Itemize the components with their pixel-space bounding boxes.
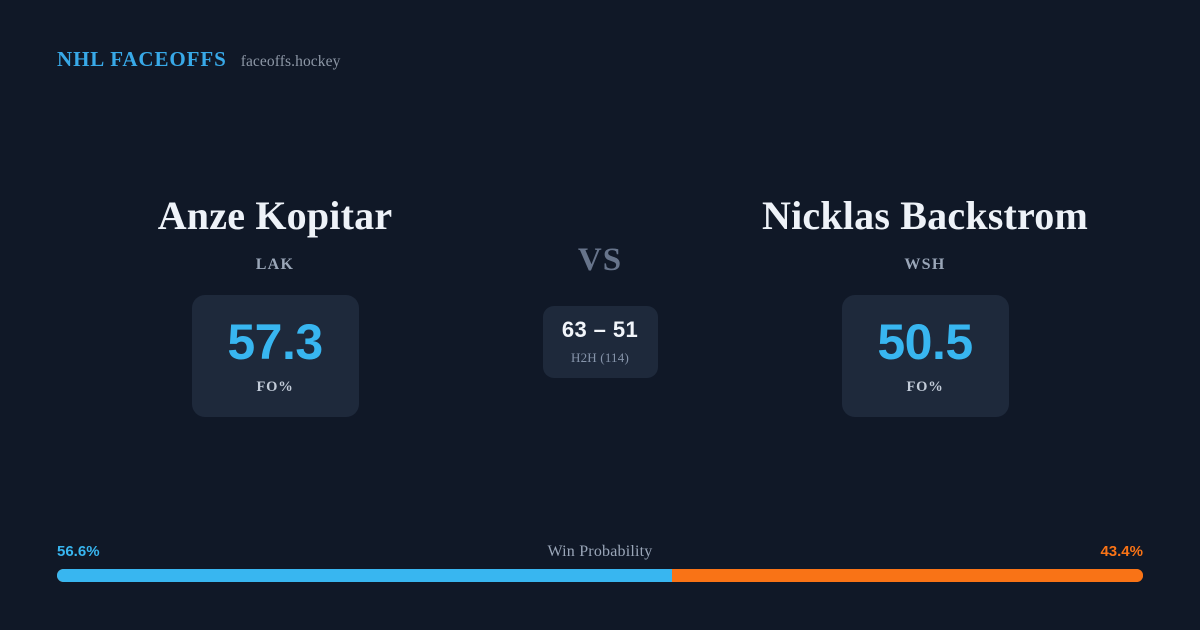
versus-panel: VS 63 – 51 H2H (114) — [510, 196, 690, 378]
win-probability-labels: 56.6% Win Probability 43.4% — [57, 543, 1143, 561]
matchup-section: Anze Kopitar LAK 57.3 FO% VS 63 – 51 H2H… — [0, 196, 1200, 417]
faceoff-stat-card-left: 57.3 FO% — [192, 295, 359, 417]
win-probability-left-value: 56.6% — [57, 543, 100, 560]
faceoff-percent-left: 57.3 — [227, 317, 322, 367]
faceoff-matchup-page: { "header": { "brand": "NHL FACEOFFS", "… — [0, 0, 1200, 630]
faceoff-stat-label-left: FO% — [256, 379, 293, 396]
win-probability-bar-right-fill — [672, 569, 1143, 582]
head-to-head-score: 63 – 51 — [562, 319, 638, 341]
player-panel-right: Nicklas Backstrom WSH 50.5 FO% — [690, 196, 1160, 417]
win-probability-bar — [57, 569, 1143, 582]
head-to-head-label: H2H (114) — [571, 350, 629, 366]
player-panel-left: Anze Kopitar LAK 57.3 FO% — [40, 196, 510, 417]
faceoff-stat-card-right: 50.5 FO% — [842, 295, 1009, 417]
site-domain: faceoffs.hockey — [241, 53, 341, 71]
versus-label: VS — [578, 244, 622, 277]
team-abbr-right: WSH — [904, 256, 945, 274]
win-probability-section: 56.6% Win Probability 43.4% — [57, 543, 1143, 582]
brand-title: NHL FACEOFFS — [57, 47, 227, 72]
win-probability-bar-left-fill — [57, 569, 672, 582]
player-name-right: Nicklas Backstrom — [762, 196, 1088, 236]
team-abbr-left: LAK — [256, 256, 295, 274]
head-to-head-card: 63 – 51 H2H (114) — [543, 306, 658, 378]
player-name-left: Anze Kopitar — [158, 196, 393, 236]
faceoff-percent-right: 50.5 — [877, 317, 972, 367]
win-probability-title: Win Probability — [547, 543, 652, 561]
faceoff-stat-label-right: FO% — [906, 379, 943, 396]
site-header: NHL FACEOFFS faceoffs.hockey — [57, 47, 340, 72]
win-probability-right-value: 43.4% — [1100, 543, 1143, 560]
